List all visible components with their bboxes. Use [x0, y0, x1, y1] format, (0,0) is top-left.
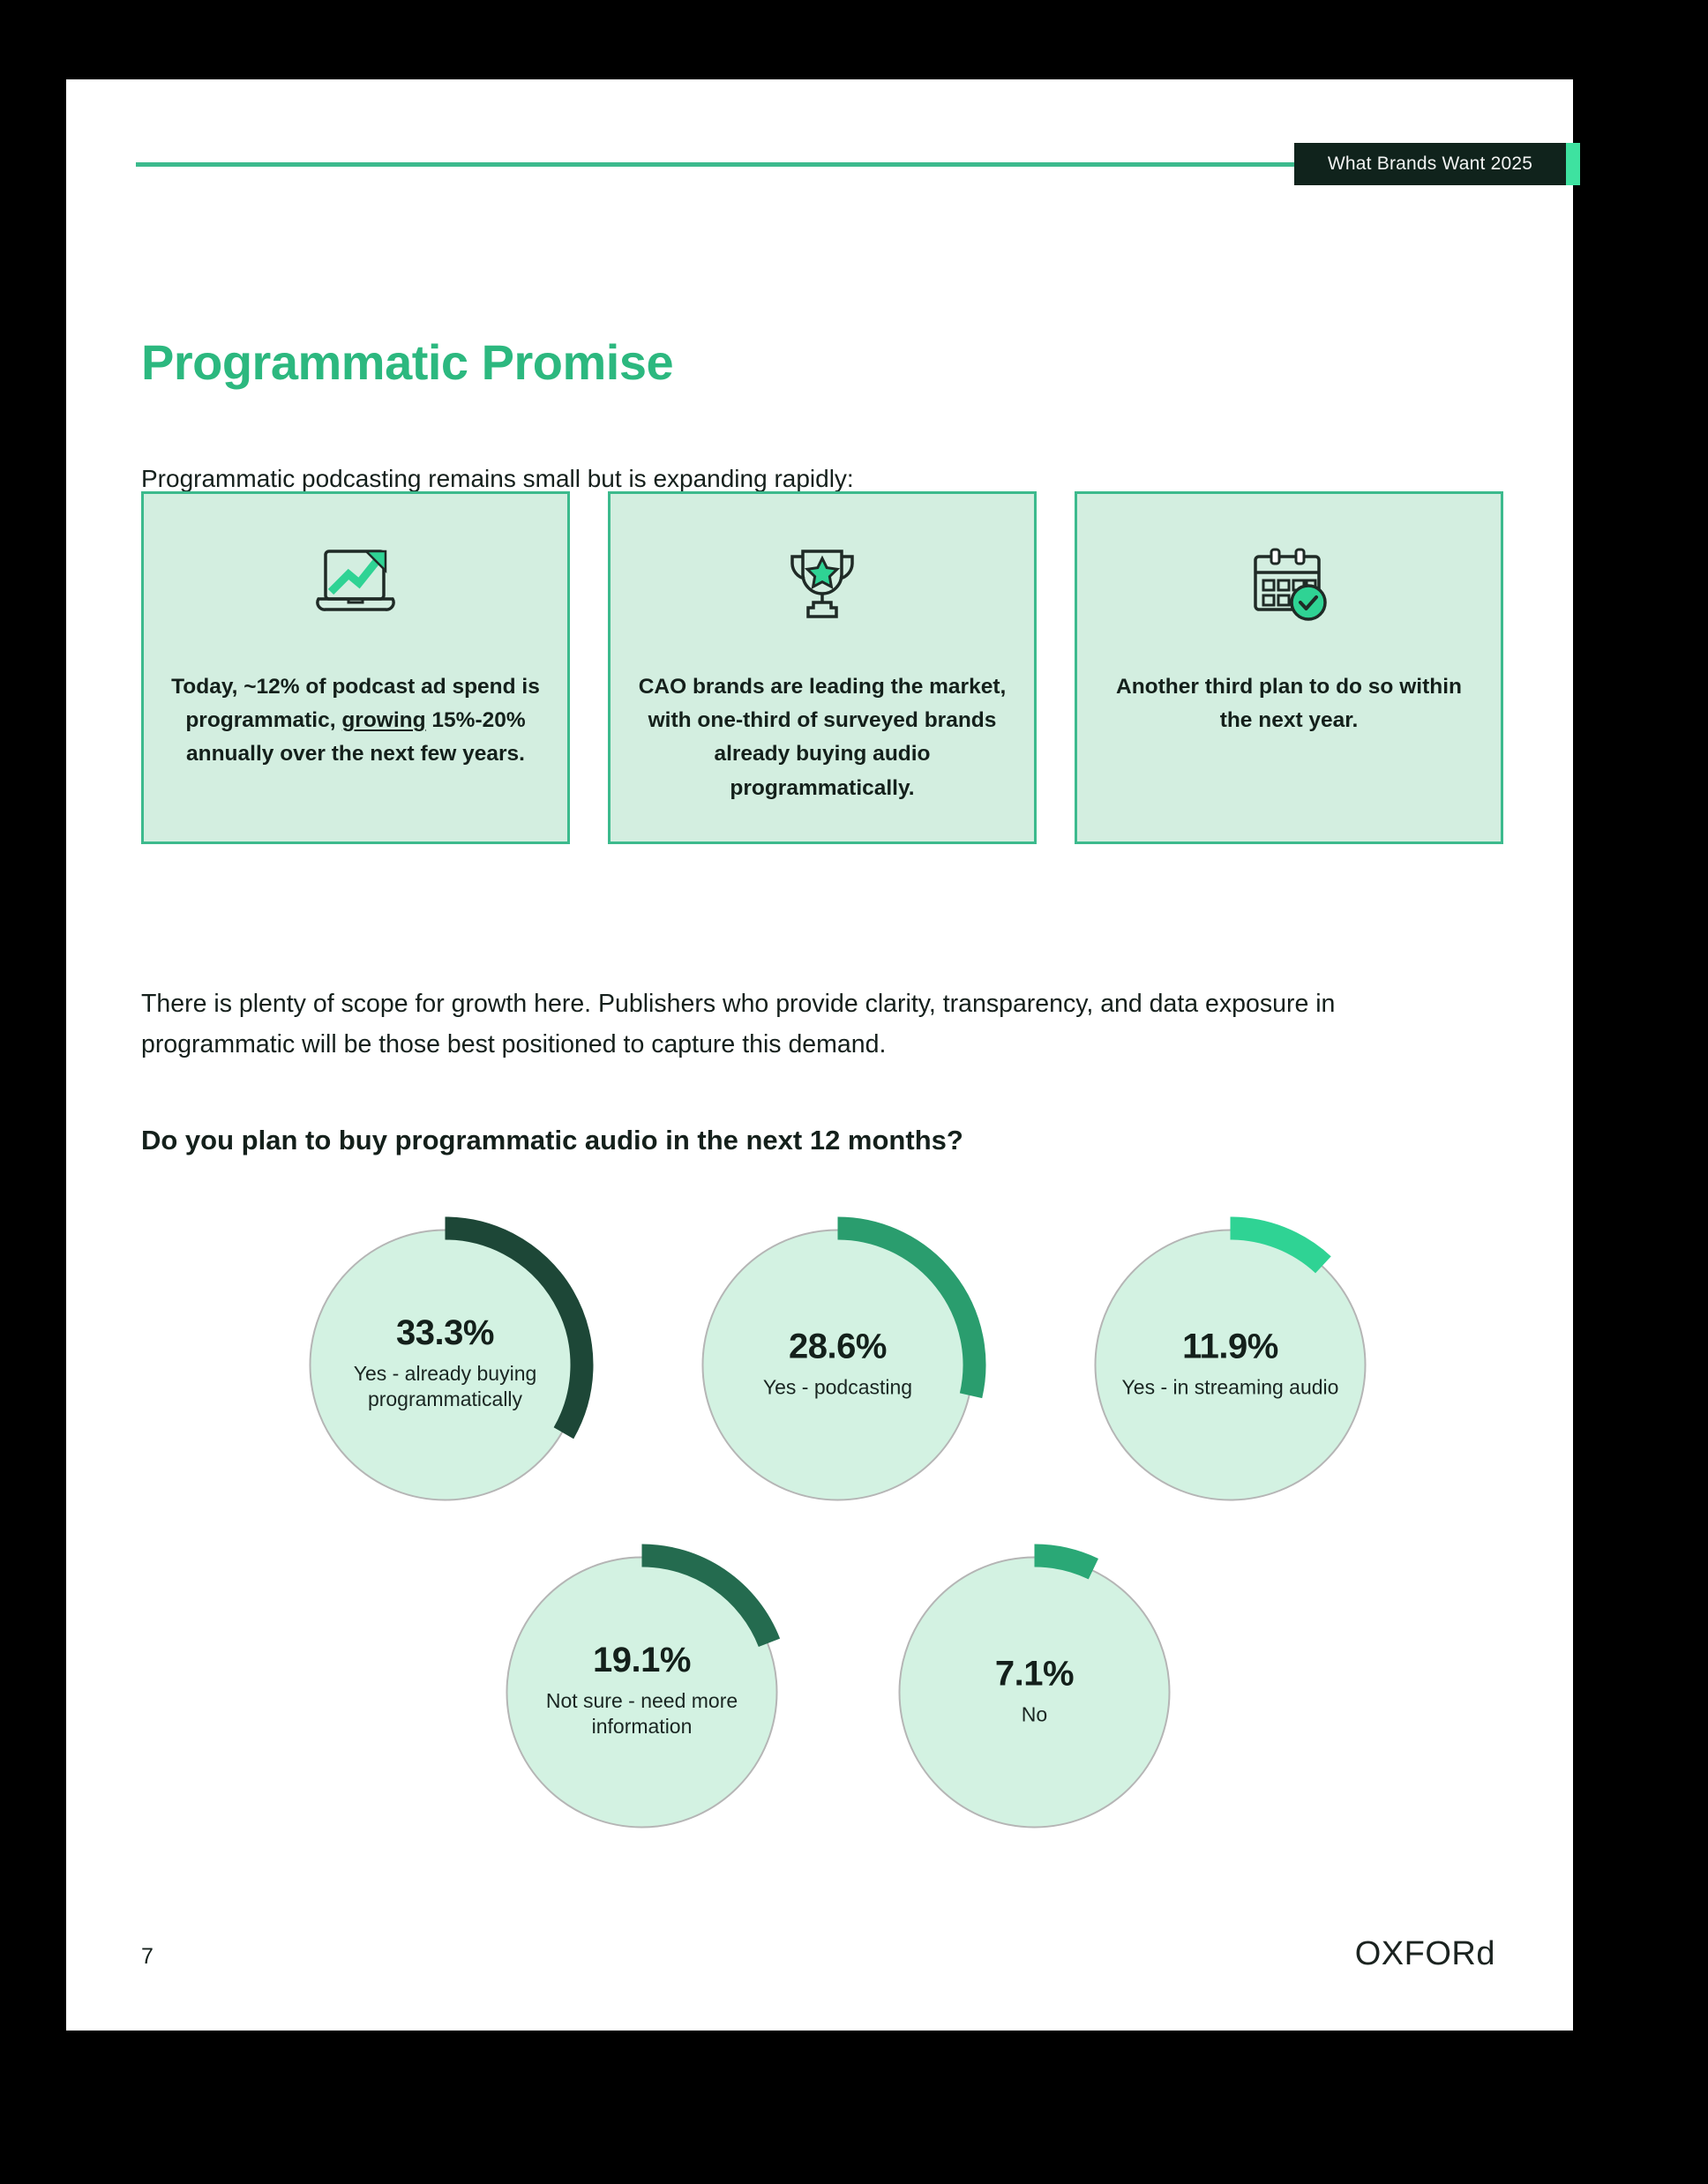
report-title-badge: What Brands Want 2025 — [1294, 143, 1566, 185]
fact-box-text: Today, ~12% of podcast ad spend is progr… — [166, 670, 545, 772]
donut-value: 7.1% — [923, 1654, 1146, 1694]
donut-center-text: 19.1%Not sure - need more information — [490, 1640, 794, 1740]
donut-cell: 28.6%Yes - podcasting — [641, 1213, 1034, 1517]
question-heading: Do you plan to buy programmatic audio in… — [141, 1125, 963, 1156]
donut-center-text: 11.9%Yes - in streaming audio — [1078, 1327, 1382, 1401]
laptop-growth-chart-icon — [310, 536, 401, 633]
fact-box-group: Today, ~12% of podcast ad spend is progr… — [141, 491, 1504, 844]
fact-text-before: Another third plan to do so within the n… — [1116, 675, 1462, 732]
calendar-check-icon — [1245, 536, 1333, 633]
donut-label: Not sure - need more information — [530, 1687, 753, 1740]
donut-label: Yes - podcasting — [726, 1374, 949, 1401]
page-number: 7 — [141, 1944, 154, 1970]
donut-cell: 11.9%Yes - in streaming audio — [1034, 1213, 1427, 1517]
donut-chart-already-buying: 33.3%Yes - already buying programmatical… — [293, 1213, 597, 1517]
page-title: Programmatic Promise — [141, 333, 673, 391]
fact-box-next-year: Another third plan to do so within the n… — [1075, 491, 1503, 844]
document-page: What Brands Want 2025 Programmatic Promi… — [66, 79, 1573, 2031]
trophy-star-icon — [780, 536, 865, 633]
fact-box-cao-brands: CAO brands are leading the market, with … — [608, 491, 1037, 844]
donut-label: Yes - in streaming audio — [1119, 1374, 1342, 1401]
donut-value: 28.6% — [726, 1327, 949, 1366]
fact-text-underlined: growing — [341, 708, 425, 732]
brand-logo: OXFORd — [1355, 1935, 1495, 1973]
donut-label: No — [923, 1702, 1146, 1728]
donut-chart-no: 7.1%No — [882, 1540, 1187, 1844]
intro-line: Programmatic podcasting remains small bu… — [141, 465, 854, 493]
donut-cell: 7.1%No — [838, 1540, 1231, 1844]
donut-row-bottom: 19.1%Not sure - need more information 7.… — [141, 1540, 1504, 1844]
body-paragraph: There is plenty of scope for growth here… — [141, 984, 1394, 1065]
donut-center-text: 28.6%Yes - podcasting — [685, 1327, 990, 1401]
donut-chart-not-sure: 19.1%Not sure - need more information — [490, 1540, 794, 1844]
donut-value: 11.9% — [1119, 1327, 1342, 1366]
donut-label: Yes - already buying programmatically — [333, 1360, 557, 1413]
donut-center-text: 33.3%Yes - already buying programmatical… — [293, 1313, 597, 1413]
donut-cell: 19.1%Not sure - need more information — [446, 1540, 838, 1844]
fact-box-ad-spend: Today, ~12% of podcast ad spend is progr… — [141, 491, 570, 844]
donut-value: 33.3% — [333, 1313, 557, 1352]
header-rule — [136, 162, 1325, 167]
fact-box-text: CAO brands are leading the market, with … — [633, 670, 1012, 805]
donut-center-text: 7.1%No — [882, 1654, 1187, 1728]
fact-box-text: Another third plan to do so within the n… — [1099, 670, 1479, 737]
donut-value: 19.1% — [530, 1640, 753, 1679]
header-badge-accent-tab — [1566, 143, 1580, 185]
donut-cell: 33.3%Yes - already buying programmatical… — [249, 1213, 641, 1517]
donut-row-top: 33.3%Yes - already buying programmatical… — [141, 1213, 1504, 1517]
donut-chart-streaming-audio: 11.9%Yes - in streaming audio — [1078, 1213, 1382, 1517]
report-title-badge-label: What Brands Want 2025 — [1328, 153, 1532, 175]
donut-chart-podcasting: 28.6%Yes - podcasting — [685, 1213, 990, 1517]
fact-text-before: CAO brands are leading the market, with … — [639, 675, 1007, 800]
donut-chart-group: 33.3%Yes - already buying programmatical… — [141, 1213, 1504, 1844]
